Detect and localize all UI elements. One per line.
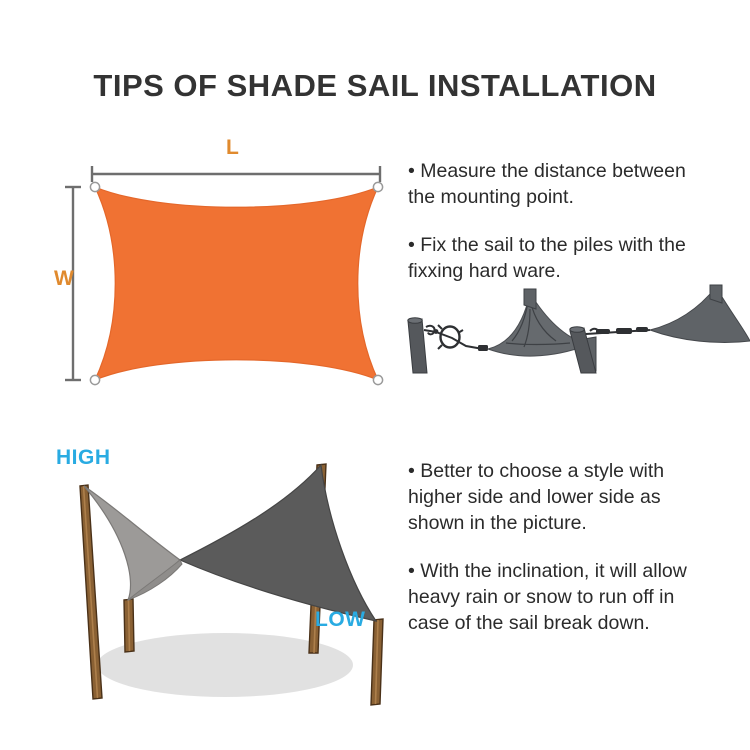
orange-sail-body (95, 187, 378, 380)
support-post-icon (524, 289, 536, 309)
turnbuckle-icon (590, 327, 648, 334)
sail-corner-shape (488, 293, 588, 356)
bullet-item: • Fix the sail to the piles with the fix… (408, 232, 750, 284)
fitting-icon (478, 345, 488, 351)
grommet-icon (90, 182, 99, 191)
sail-right-dark (180, 465, 376, 621)
hypar-sail-svg (30, 440, 420, 720)
sail-left-light (84, 486, 180, 600)
infographic-page: TIPS OF SHADE SAIL INSTALLATION (0, 0, 750, 750)
post-high-left (80, 485, 102, 699)
grommet-icon (373, 375, 382, 384)
bullet-line: • Better to choose a style with (408, 458, 750, 484)
bullet-line: heavy rain or snow to run off in (408, 584, 750, 610)
bullet-line: higher side and lower side as (408, 484, 750, 510)
fixing-hardware-illustrations (400, 283, 750, 373)
grommet-icon (373, 182, 382, 191)
bullet-line: shown in the picture. (408, 510, 750, 536)
bullet-line: case of the sail break down. (408, 610, 750, 636)
rectangular-sail-svg (40, 140, 410, 400)
post-low-middle (124, 599, 134, 652)
low-label: LOW (315, 608, 365, 632)
top-bullet-list: • Measure the distance between the mount… (408, 158, 750, 284)
bullet-item: • With the inclination, it will allow he… (408, 558, 750, 636)
length-dimension-line (92, 166, 380, 182)
high-label: HIGH (56, 446, 111, 470)
post-icon (408, 318, 427, 373)
sail-corner-shape (650, 287, 750, 343)
bottom-bullet-list: • Better to choose a style with higher s… (408, 458, 750, 658)
width-label: W (54, 267, 74, 291)
hardware-svg (400, 283, 750, 373)
hypar-sail-diagram: HIGH LOW (30, 440, 420, 720)
rectangular-sail-diagram: L W (40, 140, 410, 400)
grommet-icon (90, 375, 99, 384)
bullet-line: • Fix the sail to the piles with the (408, 232, 750, 258)
bullet-line: the mounting point. (408, 184, 750, 210)
hardware-assembly-left (408, 289, 596, 373)
post-low-right (371, 619, 383, 705)
bullet-item: • Measure the distance between the mount… (408, 158, 750, 210)
bullet-item: • Better to choose a style with higher s… (408, 458, 750, 536)
bullet-line: fixxing hard ware. (408, 258, 750, 284)
bullet-line: • With the inclination, it will allow (408, 558, 750, 584)
page-title: TIPS OF SHADE SAIL INSTALLATION (0, 68, 750, 104)
hardware-assembly-right (570, 285, 750, 373)
bullet-line: • Measure the distance between (408, 158, 750, 184)
length-label: L (226, 136, 239, 160)
